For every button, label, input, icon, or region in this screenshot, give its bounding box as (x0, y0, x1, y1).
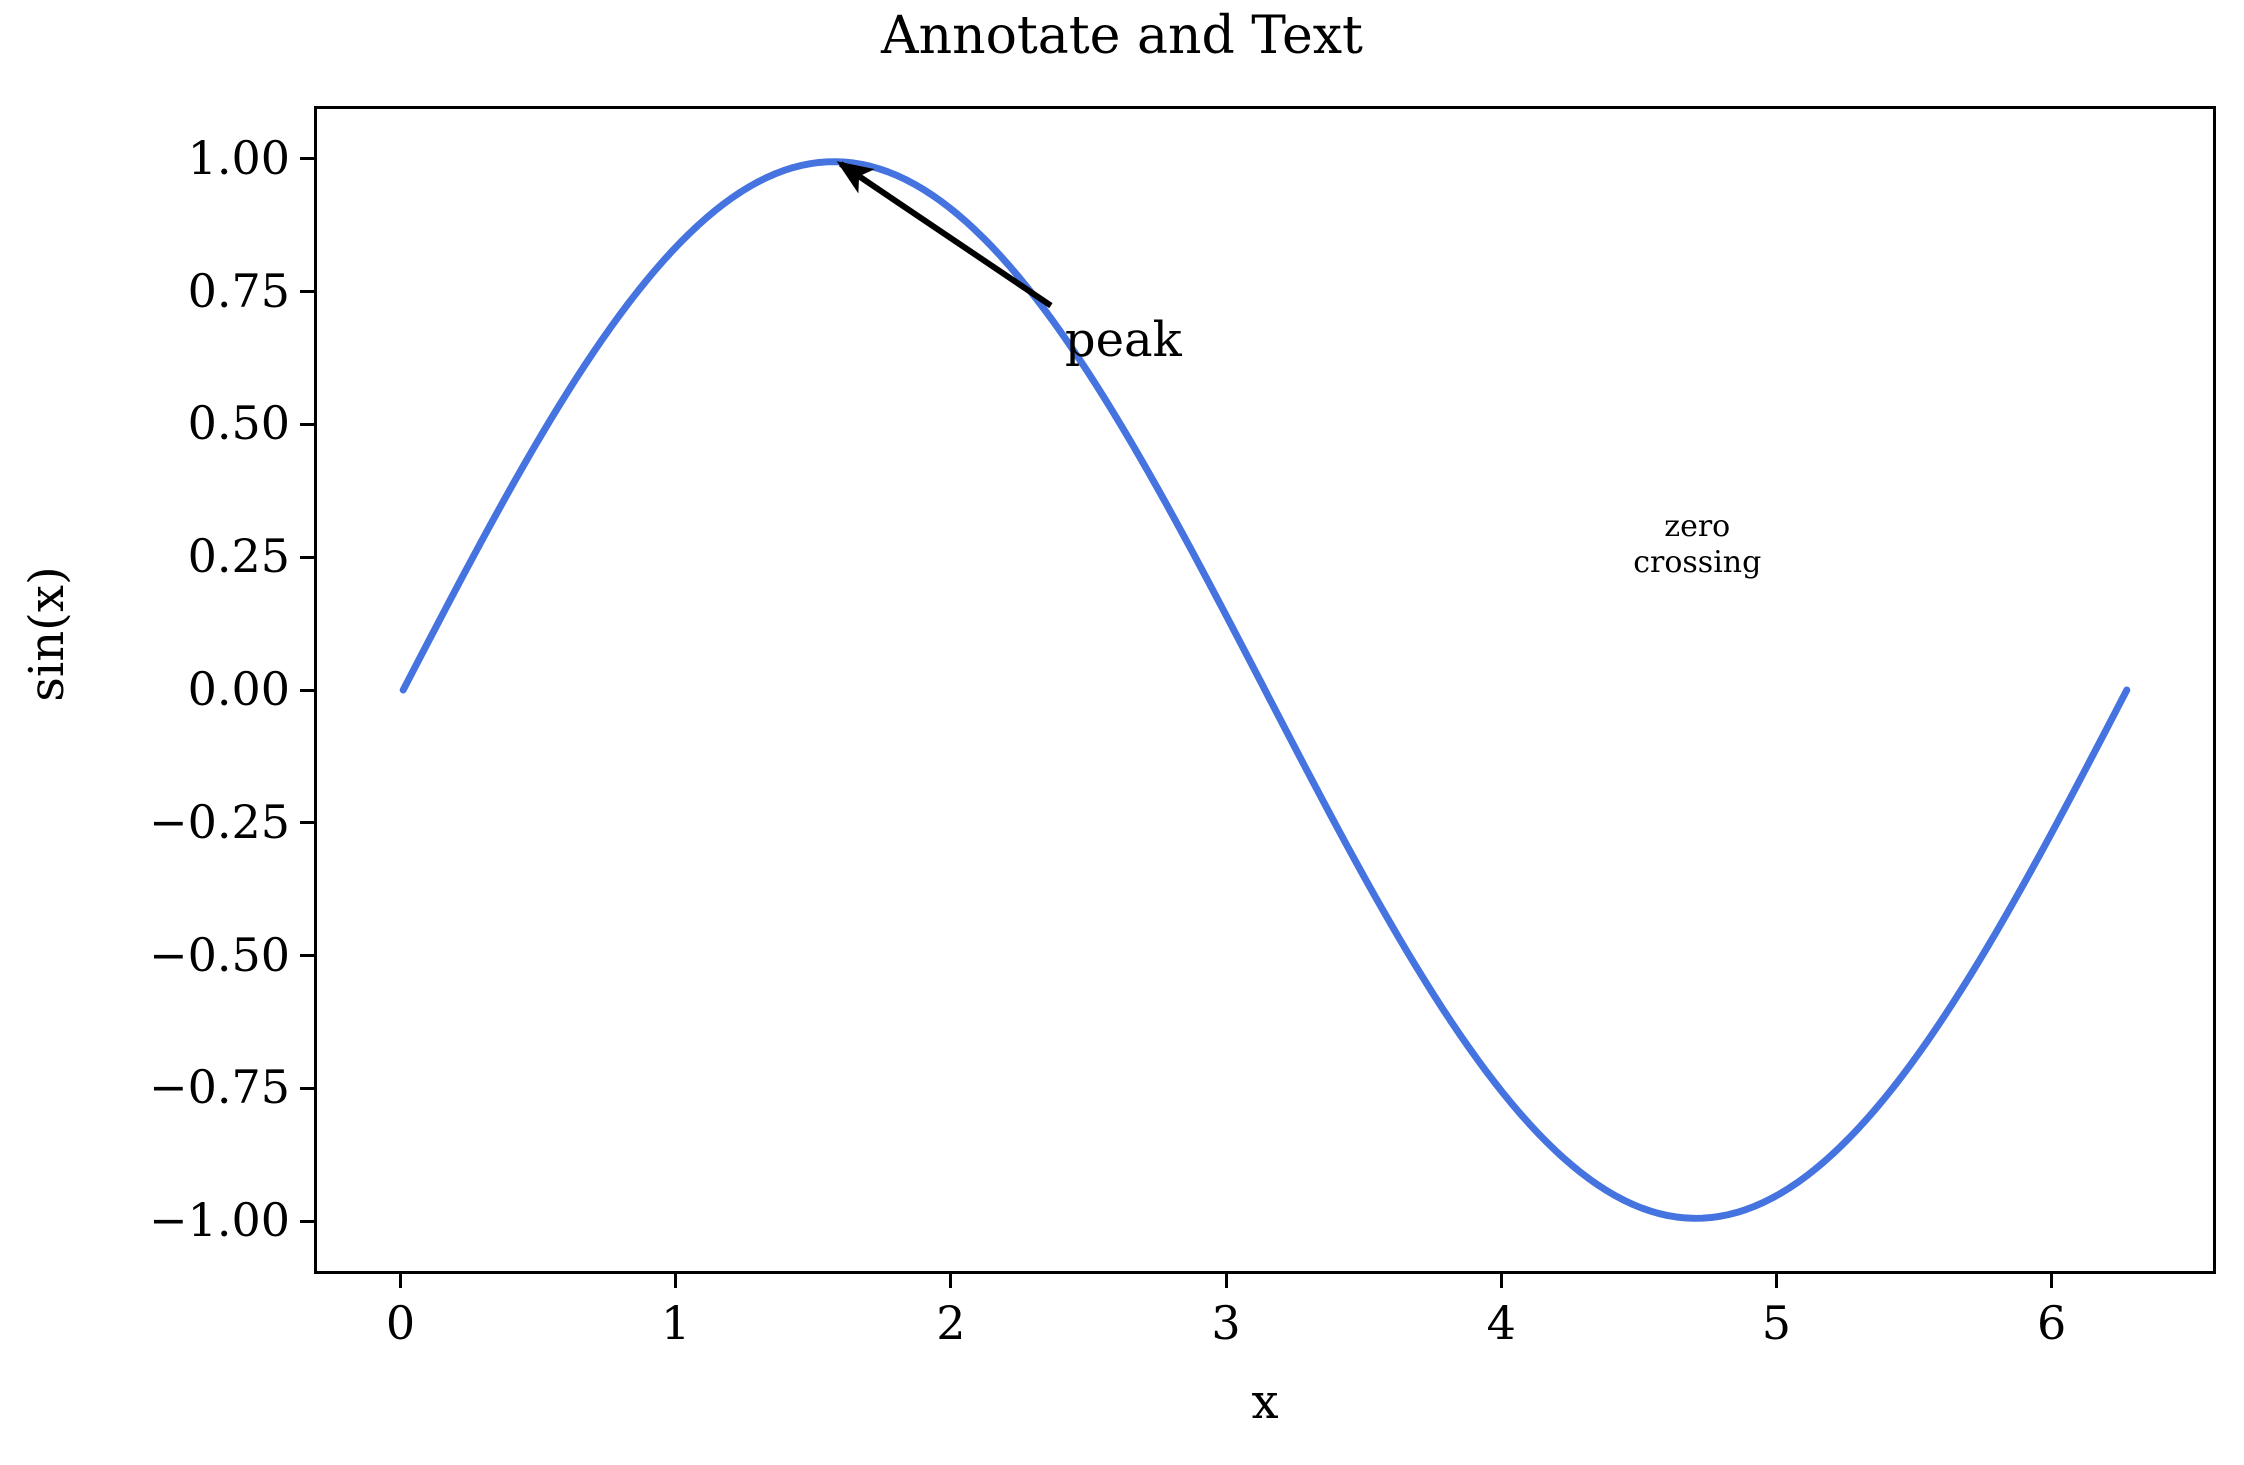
x-tick-label: 2 (851, 1300, 1051, 1346)
matplotlib-figure: Annotate and Text sin(x) 1.000.750.500.2… (0, 0, 2244, 1465)
y-tick-label: 0.00 (0, 666, 290, 712)
y-tick-mark (300, 689, 314, 692)
y-tick-mark (300, 556, 314, 559)
series-line-sin (403, 162, 2127, 1219)
x-tick-mark (949, 1274, 952, 1288)
y-axis-label: sin(x) (23, 484, 71, 784)
y-tick-label: 1.00 (0, 135, 290, 181)
y-tick-label: −0.25 (0, 799, 290, 845)
sine-curve-canvas (317, 109, 2213, 1271)
x-tick-mark (2050, 1274, 2053, 1288)
x-tick-label: 1 (576, 1300, 776, 1346)
y-tick-mark (300, 954, 314, 957)
y-tick-mark (300, 1087, 314, 1090)
y-tick-mark (300, 157, 314, 160)
y-tick-mark (300, 821, 314, 824)
y-tick-label: −1.00 (0, 1197, 290, 1243)
y-tick-mark (300, 423, 314, 426)
y-tick-label: 0.25 (0, 533, 290, 579)
y-tick-mark (300, 290, 314, 293)
x-tick-label: 4 (1401, 1300, 1601, 1346)
x-tick-mark (1225, 1274, 1228, 1288)
y-tick-mark (300, 1220, 314, 1223)
x-tick-mark (1500, 1274, 1503, 1288)
x-axis-label: x (1165, 1378, 1365, 1426)
x-tick-mark (1775, 1274, 1778, 1288)
annotation-peak-label: peak (1065, 316, 1182, 364)
annotation-zero-crossing-label: zero crossing (1597, 509, 1797, 582)
annotation-zero-crossing-line1: zero (1597, 509, 1797, 546)
x-tick-label: 5 (1676, 1300, 1876, 1346)
x-tick-label: 6 (1952, 1300, 2152, 1346)
x-tick-mark (674, 1274, 677, 1288)
y-tick-label: −0.50 (0, 932, 290, 978)
y-tick-label: 0.75 (0, 268, 290, 314)
x-tick-mark (399, 1274, 402, 1288)
x-tick-label: 0 (300, 1300, 500, 1346)
y-tick-label: −0.75 (0, 1064, 290, 1110)
page-title: Annotate and Text (0, 8, 2244, 65)
plot-area (314, 106, 2216, 1274)
annotation-zero-crossing-line2: crossing (1597, 545, 1797, 582)
x-tick-label: 3 (1126, 1300, 1326, 1346)
y-tick-label: 0.50 (0, 400, 290, 446)
